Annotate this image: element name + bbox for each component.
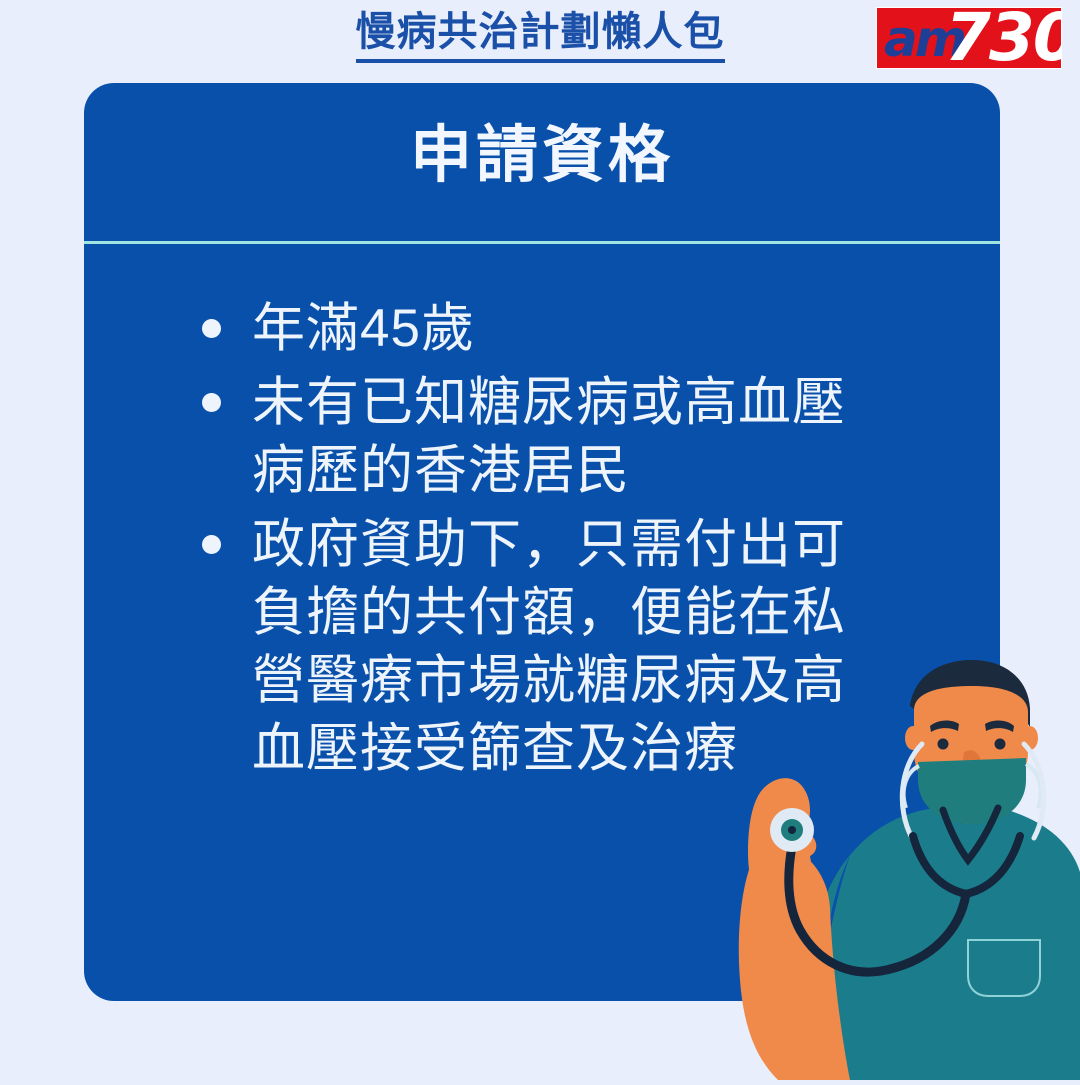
bullet-dot-icon — [202, 535, 221, 554]
bullet-dot-icon — [202, 319, 221, 338]
doctor-eye-left — [938, 739, 949, 750]
bullet-dot-icon — [202, 393, 221, 412]
list-item-label: 年滿45歲 — [252, 299, 475, 358]
stethoscope-chestpiece-center — [788, 826, 796, 834]
list-item-label: 未有已知糖尿病或高血壓病歷的香港居民 — [252, 373, 846, 500]
am730-logo: am 730 — [876, 7, 1062, 69]
logo-730-text: 730 — [945, 7, 1062, 69]
list-item: 未有已知糖尿病或高血壓病歷的香港居民 — [194, 369, 894, 505]
card-heading: 申請資格 — [84, 125, 1000, 187]
card-divider — [84, 241, 1000, 244]
doctor-eye-right — [995, 739, 1006, 750]
page-title-text: 慢病共治計劃懶人包 — [356, 10, 725, 63]
list-item: 年滿45歲 — [194, 295, 894, 363]
header-bar: 慢病共治計劃懶人包 am 730 — [0, 0, 1080, 83]
doctor-illustration — [700, 640, 1080, 1080]
